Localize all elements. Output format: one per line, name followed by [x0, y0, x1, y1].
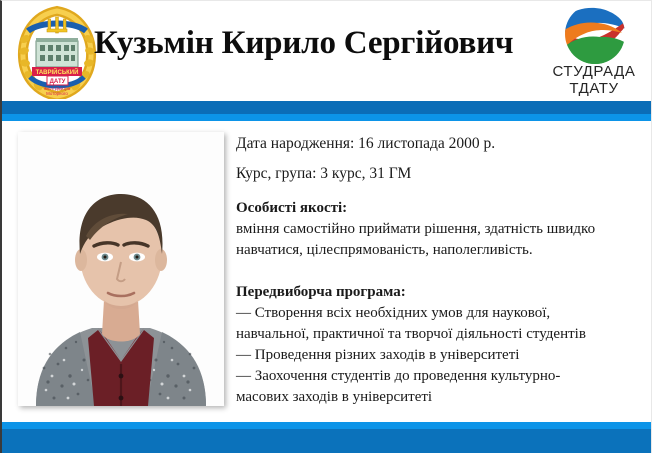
bottom-divider-dark-bar: [2, 429, 652, 453]
tavria-university-emblem: ТАВРІЙСЬКИЙ ДАТУ імені Дмитра Моторного: [14, 5, 100, 99]
studrada-sphere-icon: [564, 3, 626, 65]
personal-qualities-line-2: навчатися, цілеспрямованість, наполеглив…: [236, 240, 640, 261]
election-program-label: Передвиборча програма:: [236, 281, 640, 303]
svg-text:ТАВРІЙСЬКИЙ: ТАВРІЙСЬКИЙ: [36, 68, 79, 76]
page-title: Кузьмін Кирило Сергійович: [94, 23, 554, 63]
course-group-line: Курс, група: 3 курс, 31 ГМ: [236, 159, 640, 189]
personal-qualities-label: Особисті якості:: [236, 197, 640, 219]
studrada-brand-text: СТУДРАДА ТДАТУ: [542, 63, 646, 98]
studrada-tdatu-logo: СТУДРАДА ТДАТУ: [542, 3, 646, 99]
brand-line-1: СТУДРАДА: [542, 63, 646, 80]
bottom-divider-light-bar: [2, 422, 652, 429]
personal-qualities-line-1: вміння самостійно приймати рішення, здат…: [236, 219, 640, 240]
program-item: — Заохочення студентів до проведення кул…: [236, 366, 640, 387]
poster-header: ТАВРІЙСЬКИЙ ДАТУ імені Дмитра Моторного …: [2, 1, 652, 101]
program-item: навчальної, практичної та творчої діяльн…: [236, 324, 640, 345]
top-divider-dark-bar: [2, 101, 652, 114]
top-divider-light-bar: [2, 114, 652, 121]
candidate-poster: ТАВРІЙСЬКИЙ ДАТУ імені Дмитра Моторного …: [0, 0, 652, 453]
svg-text:ДАТУ: ДАТУ: [50, 79, 66, 85]
personal-qualities-block: Особисті якості: вміння самостійно прийм…: [236, 197, 640, 261]
program-item: — Проведення різних заходів в університе…: [236, 345, 640, 366]
program-item: масових заходів в університеті: [236, 387, 640, 408]
program-item: — Створення всіх необхідних умов для нау…: [236, 303, 640, 324]
birth-date-line: Дата народження: 16 листопада 2000 р.: [236, 129, 640, 159]
election-program-block: Передвиборча програма: — Створення всіх …: [236, 281, 640, 408]
brand-line-2: ТДАТУ: [542, 80, 646, 98]
candidate-photo: [18, 132, 224, 406]
svg-text:Моторного: Моторного: [46, 91, 68, 96]
candidate-info: Дата народження: 16 листопада 2000 р. Ку…: [236, 129, 640, 408]
